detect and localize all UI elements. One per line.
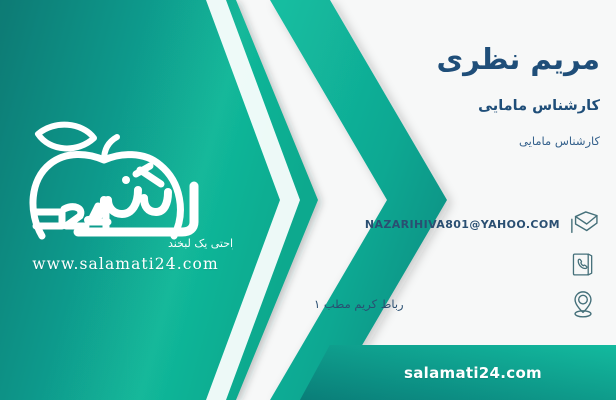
contact-value-email: NAZARIHIVA801@YAHOO.COM: [310, 218, 560, 231]
apple-leaf: [38, 125, 94, 149]
logo-mark-svg: به راحتی یک لبخند: [18, 108, 233, 258]
phone-book-icon: [566, 246, 600, 282]
contact-value-address: رباط کریم مطب ۱: [310, 297, 560, 311]
business-card: به راحتی یک لبخند www.salamati24.com مری…: [0, 0, 616, 400]
contact-list: NAZARIHIVA801@YAHOO.COM: [310, 204, 600, 324]
contact-row-address[interactable]: رباط کریم مطب ۱: [310, 284, 600, 324]
contact-row-phone[interactable]: [310, 244, 600, 284]
brand-tagline: به راحتی یک لبخند: [168, 237, 233, 250]
envelope-icon: [566, 206, 600, 242]
card-content: مریم نظری کارشناس مامایی کارشناس مامایی: [310, 0, 600, 400]
person-name: مریم نظری: [437, 44, 600, 76]
map-pin-icon: [566, 286, 600, 322]
person-role-primary: کارشناس مامایی: [478, 98, 600, 114]
logo-website: www.salamati24.com: [18, 255, 233, 273]
contact-row-email[interactable]: NAZARIHIVA801@YAHOO.COM: [310, 204, 600, 244]
brand-logo: به راحتی یک لبخند www.salamati24.com: [18, 108, 233, 278]
person-role-secondary: کارشناس مامایی: [519, 134, 600, 148]
